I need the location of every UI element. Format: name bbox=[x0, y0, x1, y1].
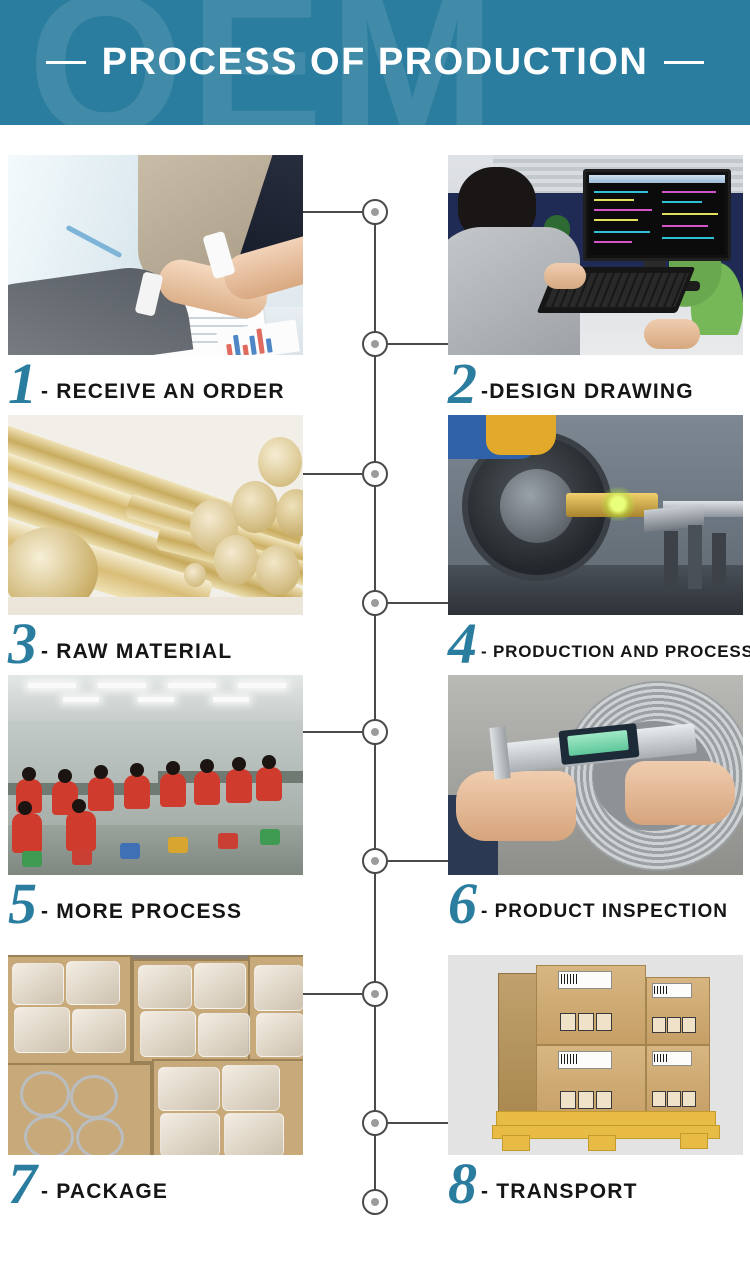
step-card-6[interactable]: 6 - PRODUCT INSPECTION bbox=[448, 675, 743, 929]
step-7-image bbox=[8, 955, 303, 1155]
step-8-image bbox=[448, 955, 743, 1155]
timeline-branch-5-left bbox=[303, 731, 362, 733]
header-inner: PROCESS OF PRODUCTION bbox=[0, 0, 750, 125]
step-3-label: - RAW MATERIAL bbox=[41, 635, 232, 669]
timeline-branch-6-right bbox=[388, 860, 448, 862]
step-8-caption: 8 - TRANSPORT bbox=[448, 1155, 743, 1209]
step-2-label: -DESIGN DRAWING bbox=[481, 375, 694, 409]
header-rule-left-icon bbox=[46, 61, 86, 64]
timeline-node-3 bbox=[362, 461, 388, 487]
step-card-4[interactable]: 4 - PRODUCTION AND PROCESSING bbox=[448, 415, 743, 669]
timeline-node-end bbox=[362, 1189, 388, 1215]
page-header: OEM PROCESS OF PRODUCTION bbox=[0, 0, 750, 125]
step-5-image bbox=[8, 675, 303, 875]
step-card-1[interactable]: 1 - RECEIVE AN ORDER bbox=[8, 155, 303, 409]
step-card-7[interactable]: 7 - PACKAGE bbox=[8, 955, 303, 1209]
step-1-number: 1 bbox=[8, 359, 37, 409]
step-7-number: 7 bbox=[8, 1159, 37, 1209]
step-card-2[interactable]: 2 -DESIGN DRAWING bbox=[448, 155, 743, 409]
step-6-label: - PRODUCT INSPECTION bbox=[481, 895, 728, 929]
timeline-rail bbox=[374, 212, 376, 1202]
step-card-5[interactable]: 5 - MORE PROCESS bbox=[8, 675, 303, 929]
step-8-number: 8 bbox=[448, 1159, 477, 1209]
step-7-label: - PACKAGE bbox=[41, 1175, 168, 1209]
timeline-branch-7-left bbox=[303, 993, 362, 995]
timeline-branch-8-right bbox=[388, 1122, 448, 1124]
step-2-caption: 2 -DESIGN DRAWING bbox=[448, 355, 743, 409]
step-1-image bbox=[8, 155, 303, 355]
step-4-caption: 4 - PRODUCTION AND PROCESSING bbox=[448, 615, 743, 669]
timeline-branch-2-right bbox=[388, 343, 448, 345]
step-8-label: - TRANSPORT bbox=[481, 1175, 638, 1209]
step-3-image bbox=[8, 415, 303, 615]
timeline-node-8 bbox=[362, 1110, 388, 1136]
timeline-node-2 bbox=[362, 331, 388, 357]
page-title: PROCESS OF PRODUCTION bbox=[102, 41, 649, 84]
step-6-caption: 6 - PRODUCT INSPECTION bbox=[448, 875, 743, 929]
step-1-label: - RECEIVE AN ORDER bbox=[41, 375, 285, 409]
timeline-node-4 bbox=[362, 590, 388, 616]
step-4-number: 4 bbox=[448, 619, 477, 669]
header-rule-right-icon bbox=[664, 61, 704, 64]
step-card-3[interactable]: 3 - RAW MATERIAL bbox=[8, 415, 303, 669]
step-3-caption: 3 - RAW MATERIAL bbox=[8, 615, 303, 669]
step-4-image bbox=[448, 415, 743, 615]
step-5-caption: 5 - MORE PROCESS bbox=[8, 875, 303, 929]
step-5-number: 5 bbox=[8, 879, 37, 929]
timeline-branch-3-left bbox=[303, 473, 362, 475]
step-2-number: 2 bbox=[448, 359, 477, 409]
step-2-image bbox=[448, 155, 743, 355]
step-6-image bbox=[448, 675, 743, 875]
step-5-label: - MORE PROCESS bbox=[41, 895, 242, 929]
timeline-node-6 bbox=[362, 848, 388, 874]
timeline-branch-4-right bbox=[388, 602, 448, 604]
timeline-node-5 bbox=[362, 719, 388, 745]
timeline-node-7 bbox=[362, 981, 388, 1007]
step-7-caption: 7 - PACKAGE bbox=[8, 1155, 303, 1209]
step-1-caption: 1 - RECEIVE AN ORDER bbox=[8, 355, 303, 409]
step-6-number: 6 bbox=[448, 879, 477, 929]
timeline-node-1 bbox=[362, 199, 388, 225]
timeline-branch-1-left bbox=[303, 211, 362, 213]
step-3-number: 3 bbox=[8, 619, 37, 669]
step-card-8[interactable]: 8 - TRANSPORT bbox=[448, 955, 743, 1209]
step-4-label: - PRODUCTION AND PROCESSING bbox=[481, 635, 750, 669]
